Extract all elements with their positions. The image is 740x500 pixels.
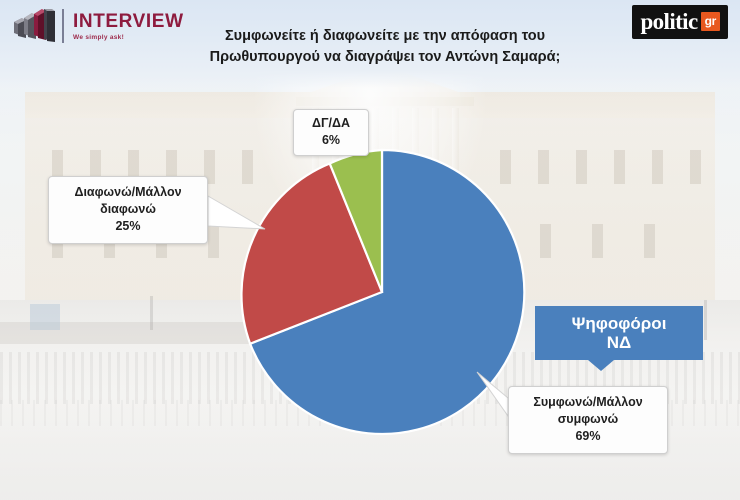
callout-disagree: Διαφωνώ/Μάλλον διαφωνώ 25% xyxy=(48,176,208,244)
page-title-line2: Πρωθυπουργού να διαγράψει τον Αντώνη Σαμ… xyxy=(150,47,620,68)
callout-dgda: ΔΓ/ΔΑ 6% xyxy=(293,109,369,156)
callout-disagree-label-1: Διαφωνώ/Μάλλον xyxy=(55,184,201,201)
callout-dgda-label: ΔΓ/ΔΑ xyxy=(298,115,364,132)
callout-agree-value: 69% xyxy=(515,428,661,445)
callout-agree-label-1: Συμφωνώ/Μάλλον xyxy=(515,394,661,411)
page-title: Συμφωνείτε ή διαφωνείτε με την απόφαση τ… xyxy=(150,26,620,68)
voters-banner-text: Ψηφοφόροι ΝΔ xyxy=(535,306,703,360)
callout-agree: Συμφωνώ/Μάλλον συμφωνώ 69% xyxy=(508,386,668,454)
callout-disagree-label-2: διαφωνώ xyxy=(55,201,201,218)
voters-banner-notch-icon xyxy=(588,360,614,371)
callout-disagree-value: 25% xyxy=(55,218,201,235)
interview-mark-icon xyxy=(10,9,58,43)
politic-gr-logo: politic gr xyxy=(632,5,728,39)
voters-banner-line1: Ψηφοφόροι xyxy=(572,314,667,333)
callout-dgda-value: 6% xyxy=(298,132,364,149)
voters-banner: Ψηφοφόροι ΝΔ xyxy=(535,306,703,360)
voters-banner-line2: ΝΔ xyxy=(607,333,632,352)
callout-agree-label-2: συμφωνώ xyxy=(515,411,661,428)
poll-infographic: INTERVIEW We simply ask! politic gr Συμφ… xyxy=(0,0,740,500)
pie-chart xyxy=(236,146,528,438)
logo-divider xyxy=(62,9,64,43)
page-title-line1: Συμφωνείτε ή διαφωνείτε με την απόφαση τ… xyxy=(150,26,620,47)
politic-gr-suffix: gr xyxy=(701,12,720,31)
politic-name: politic xyxy=(640,10,697,33)
